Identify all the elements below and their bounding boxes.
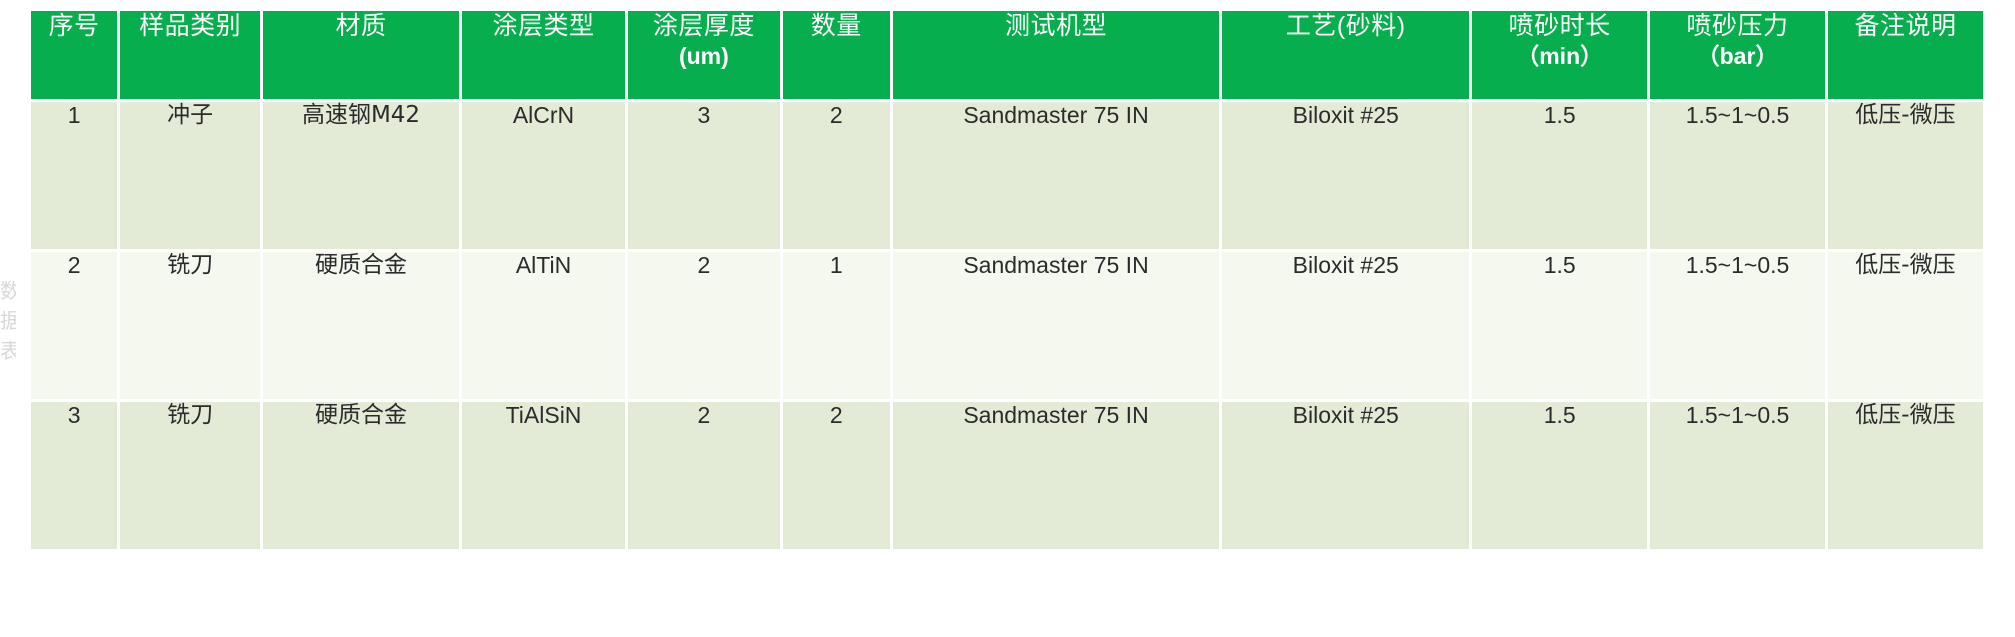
column-header-coating-thickness: 涂层厚度 (um)	[628, 11, 780, 99]
column-header-coating-type: 涂层类型	[462, 11, 625, 99]
cell-test-machine: Sandmaster 75 IN	[893, 402, 1219, 549]
cell-index: 3	[31, 402, 117, 549]
table-row: 1 冲子 高速钢M42 AlCrN 3 2 Sandmaster 75 IN B…	[31, 102, 1983, 249]
cell-material: 硬质合金	[263, 402, 459, 549]
column-header-unit: （bar）	[1650, 42, 1825, 71]
cell-blast-pressure: 1.5~1~0.5	[1650, 102, 1825, 249]
column-header-label: 涂层厚度	[653, 12, 755, 40]
cell-sample-type: 铣刀	[120, 252, 260, 399]
cell-process-media: Biloxit #25	[1222, 402, 1469, 549]
cell-coating-type: TiAlSiN	[462, 402, 625, 549]
cell-coating-thickness: 2	[628, 402, 780, 549]
column-header-unit: （min）	[1472, 42, 1647, 71]
cell-index: 1	[31, 102, 117, 249]
margin-clipped-glyph-2: 据	[0, 311, 16, 332]
cell-coating-type: AlCrN	[462, 102, 625, 249]
cell-process-media: Biloxit #25	[1222, 252, 1469, 399]
cell-blast-time: 1.5	[1472, 252, 1647, 399]
column-header-label: 喷砂压力	[1687, 12, 1789, 40]
column-header-test-machine: 测试机型	[893, 11, 1219, 99]
column-header-label: 备注说明	[1854, 12, 1956, 40]
cell-blast-pressure: 1.5~1~0.5	[1650, 402, 1825, 549]
cell-blast-pressure: 1.5~1~0.5	[1650, 252, 1825, 399]
cell-quantity: 1	[783, 252, 890, 399]
column-header-label: 序号	[49, 12, 100, 40]
cell-remark: 低压-微压	[1828, 102, 1983, 249]
column-header-label: 样品类别	[139, 12, 241, 40]
cell-material: 高速钢M42	[263, 102, 459, 249]
cell-coating-thickness: 2	[628, 252, 780, 399]
table-row: 3 铣刀 硬质合金 TiAlSiN 2 2 Sandmaster 75 IN B…	[31, 402, 1983, 549]
cell-coating-thickness: 3	[628, 102, 780, 249]
column-header-blast-pressure: 喷砂压力 （bar）	[1650, 11, 1825, 99]
cell-material: 硬质合金	[263, 252, 459, 399]
cell-sample-type: 铣刀	[120, 402, 260, 549]
column-header-quantity: 数量	[783, 11, 890, 99]
margin-clipped-glyph-3: 表	[0, 341, 16, 362]
table-row: 2 铣刀 硬质合金 AlTiN 2 1 Sandmaster 75 IN Bil…	[31, 252, 1983, 399]
cell-test-machine: Sandmaster 75 IN	[893, 102, 1219, 249]
cell-coating-type: AlTiN	[462, 252, 625, 399]
table-header: 序号 样品类别 材质 涂层类型 涂层厚度 (um) 数量	[31, 11, 1983, 99]
margin-clipped-glyph-1: 数	[0, 281, 16, 302]
sample-specification-table: 序号 样品类别 材质 涂层类型 涂层厚度 (um) 数量	[28, 8, 1986, 552]
column-header-label: 测试机型	[1005, 12, 1107, 40]
table-header-row: 序号 样品类别 材质 涂层类型 涂层厚度 (um) 数量	[31, 11, 1983, 99]
column-header-blast-time: 喷砂时长 （min）	[1472, 11, 1647, 99]
column-header-remark: 备注说明	[1828, 11, 1983, 99]
cell-sample-type: 冲子	[120, 102, 260, 249]
column-header-label: 数量	[811, 12, 862, 40]
cell-quantity: 2	[783, 102, 890, 249]
spreadsheet-canvas: 数 据 表 序号 样品类别 材质 涂层类型 涂层	[0, 0, 2015, 637]
cell-index: 2	[31, 252, 117, 399]
cell-blast-time: 1.5	[1472, 402, 1647, 549]
column-header-index: 序号	[31, 11, 117, 99]
cell-test-machine: Sandmaster 75 IN	[893, 252, 1219, 399]
cell-process-media: Biloxit #25	[1222, 102, 1469, 249]
column-header-unit: (um)	[628, 42, 780, 71]
cell-remark: 低压-微压	[1828, 402, 1983, 549]
cell-quantity: 2	[783, 402, 890, 549]
column-header-label: 喷砂时长	[1509, 12, 1611, 40]
column-header-label: 工艺(砂料)	[1286, 12, 1406, 40]
column-header-label: 材质	[336, 12, 387, 40]
cell-remark: 低压-微压	[1828, 252, 1983, 399]
column-header-material: 材质	[263, 11, 459, 99]
column-header-process-media: 工艺(砂料)	[1222, 11, 1469, 99]
table-body: 1 冲子 高速钢M42 AlCrN 3 2 Sandmaster 75 IN B…	[31, 102, 1983, 549]
column-header-label: 涂层类型	[493, 12, 595, 40]
column-header-sample-type: 样品类别	[120, 11, 260, 99]
cell-blast-time: 1.5	[1472, 102, 1647, 249]
